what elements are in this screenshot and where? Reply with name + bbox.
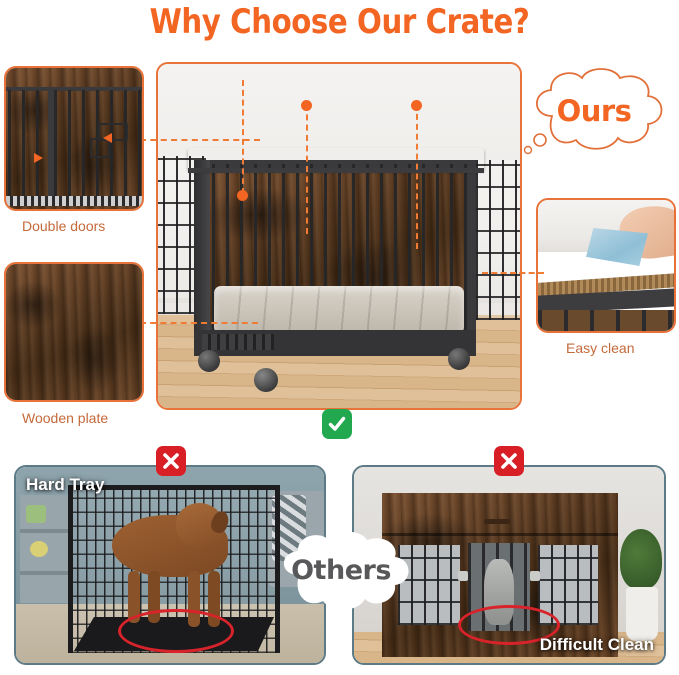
- feature-panel-double-doors: [4, 66, 144, 211]
- check-badge: [322, 409, 352, 439]
- caption-double-doors: Double doors: [22, 218, 105, 234]
- ours-bubble: Ours: [518, 64, 670, 162]
- check-icon: [327, 414, 347, 434]
- left-door-bars: [8, 90, 50, 202]
- page-title: Why Choose Our Crate?: [48, 2, 632, 42]
- connector-double-doors: [140, 139, 260, 141]
- arrow-icon: [102, 130, 126, 144]
- right-door-mesh: [476, 160, 520, 320]
- label-hard-tray: Hard Tray: [26, 475, 104, 495]
- callout-line-clean: [416, 104, 418, 249]
- potted-plant: [620, 529, 662, 589]
- ours-bubble-text: Ours: [518, 94, 670, 128]
- cross-badge-difficult-clean: [494, 446, 524, 476]
- feature-panel-easy-clean: [536, 198, 676, 333]
- callout-dot-doors: [237, 190, 248, 201]
- caption-easy-clean: Easy clean: [566, 340, 634, 356]
- main-product-panel: [156, 62, 522, 410]
- connector-easy-clean: [482, 272, 544, 274]
- callout-line-doors: [242, 80, 244, 194]
- label-difficult-clean: Difficult Clean: [540, 635, 654, 655]
- cross-badge-hard-tray: [156, 446, 186, 476]
- arrow-icon: [20, 150, 44, 164]
- caster-wheel: [254, 368, 278, 392]
- highlight-hard-tray: [118, 609, 234, 653]
- caption-wooden-plate: Wooden plate: [22, 410, 108, 426]
- connector-wooden-plate: [140, 322, 258, 324]
- callout-dot-clean: [411, 100, 422, 111]
- easy-clean-photo: [538, 200, 674, 331]
- others-bubble-text: Others: [267, 555, 415, 586]
- main-product-photo: [158, 64, 520, 408]
- caster-wheel: [448, 348, 470, 370]
- callout-dot-wood: [301, 100, 312, 111]
- others-bubble: Others: [267, 527, 415, 619]
- crate-wood-top: [188, 148, 484, 170]
- caster-wheel: [198, 350, 220, 372]
- crate-cushion: [214, 286, 464, 334]
- cross-icon: [162, 452, 180, 470]
- cross-icon: [500, 452, 518, 470]
- double-doors-photo: [6, 68, 142, 209]
- wooden-plate-photo: [6, 264, 142, 400]
- callout-line-wood: [306, 104, 308, 234]
- feature-panel-wooden-plate: [4, 262, 144, 402]
